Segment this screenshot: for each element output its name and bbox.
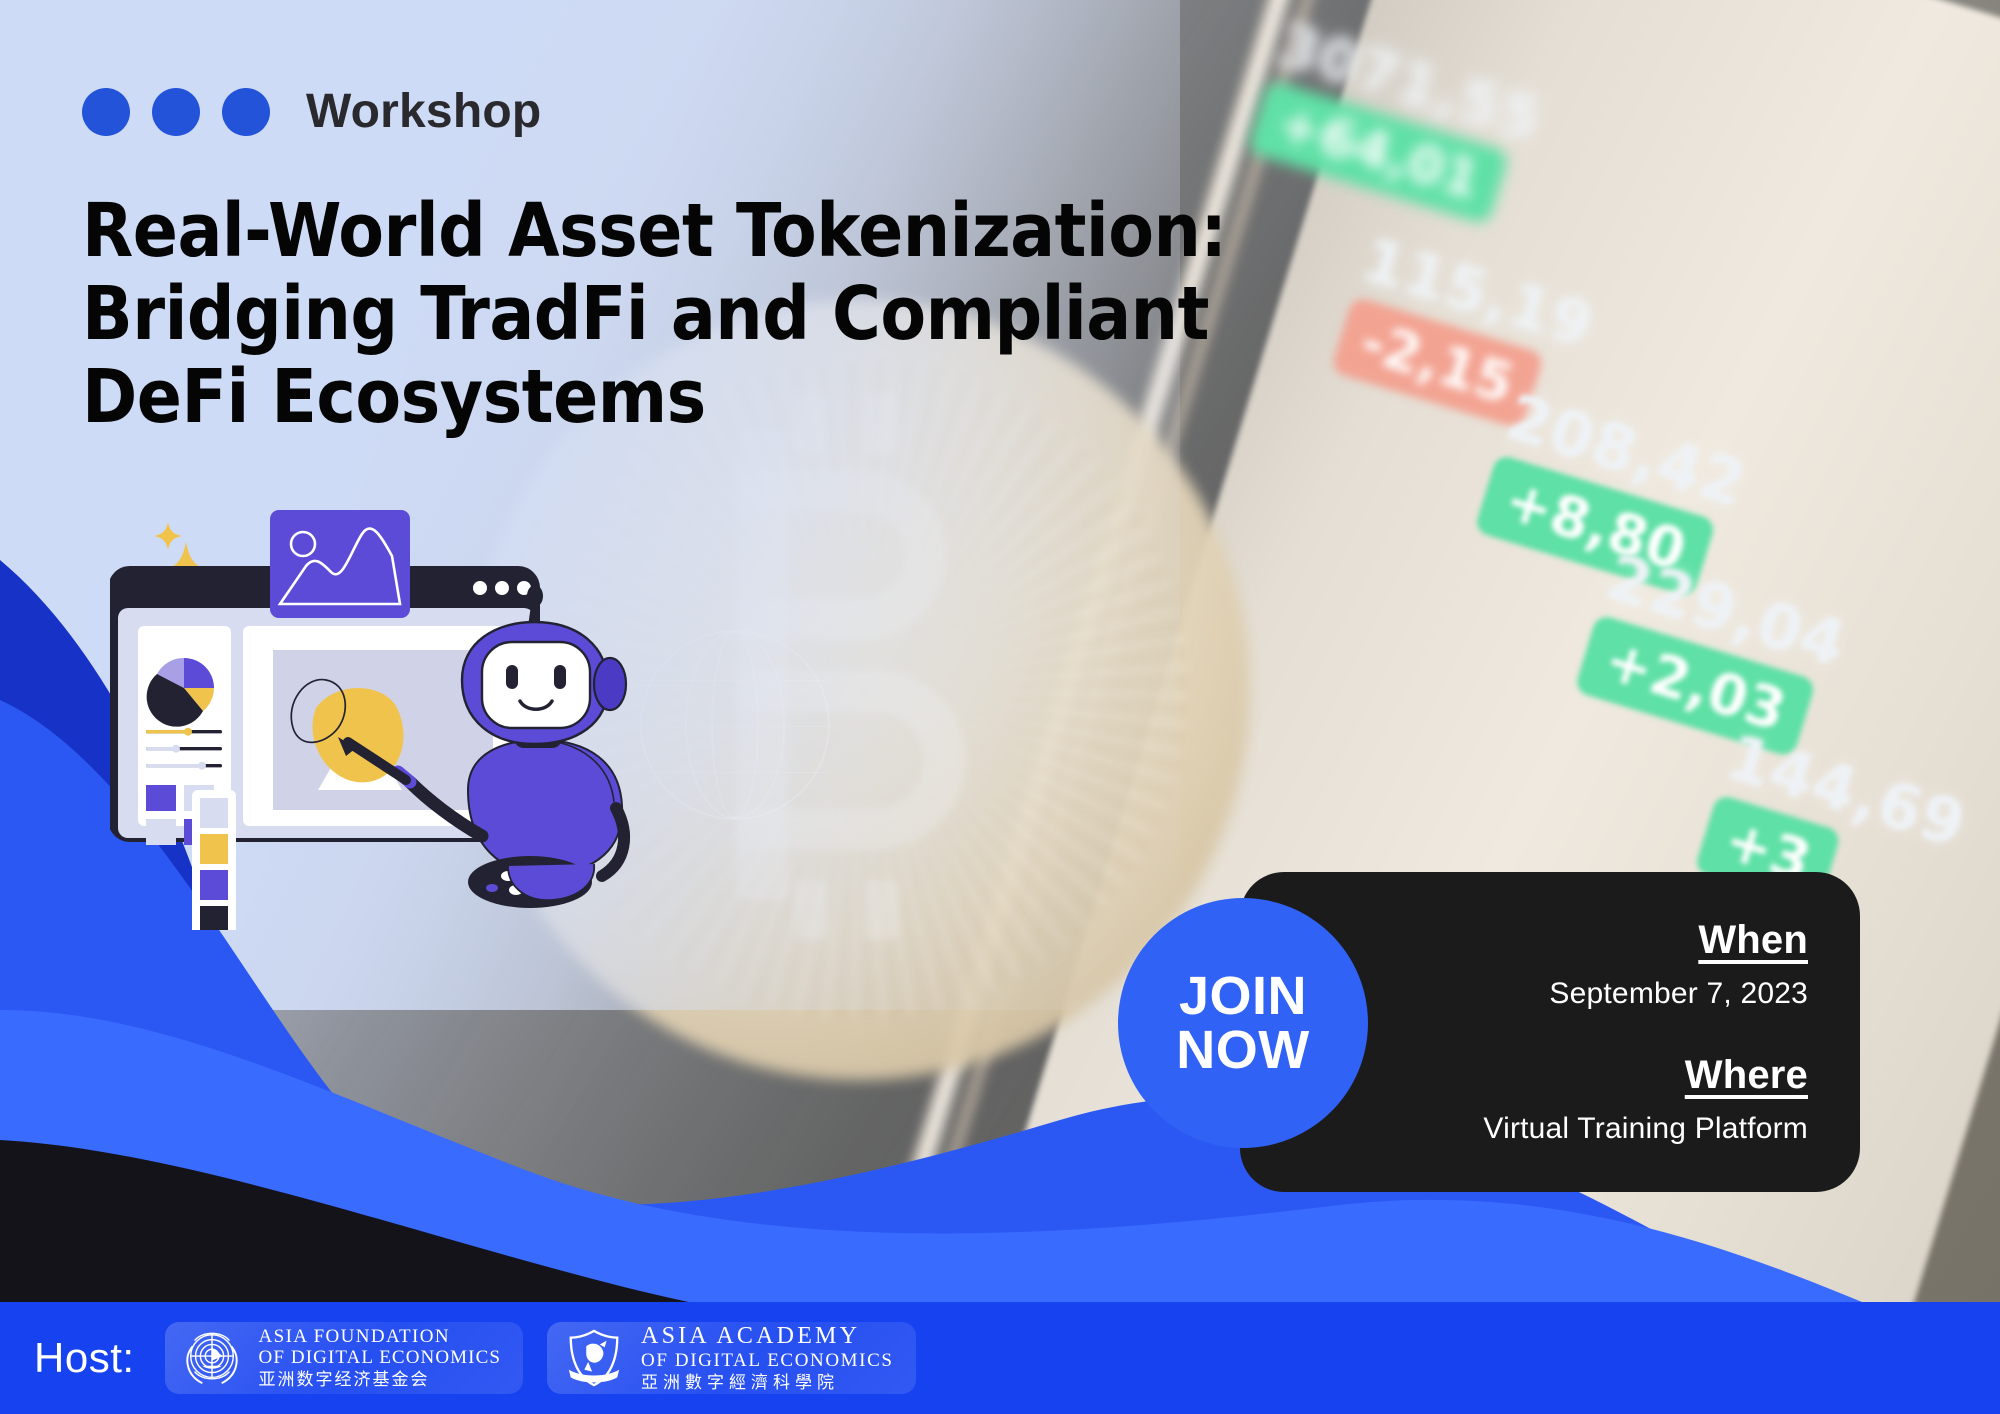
title-line-3: DeFi Ecosystems <box>82 356 1042 439</box>
when-value: September 7, 2023 <box>1549 977 1808 1011</box>
logo-line-cn: 亚洲数字经济基金会 <box>259 1371 502 1390</box>
robot-face-screen <box>482 642 590 728</box>
palette-swatch-dark <box>200 906 228 930</box>
window-dot-1 <box>473 581 487 595</box>
kicker-dot-3 <box>222 88 270 136</box>
ribbon-banner <box>569 1370 619 1383</box>
heraldic-shield-lion-icon <box>563 1327 625 1389</box>
lion-head <box>600 1341 607 1348</box>
logo-line-2: OF DIGITAL ECONOMICS <box>259 1347 502 1368</box>
logo-line-cn: 亞洲數字經濟科學院 <box>641 1374 894 1393</box>
logo-line-2: OF DIGITAL ECONOMICS <box>641 1350 894 1371</box>
host-logo-text: ASIA ACADEMY OF DIGITAL ECONOMICS 亞洲數字經濟… <box>641 1323 894 1392</box>
logo-line-1: ASIA FOUNDATION <box>259 1326 502 1347</box>
kicker-dot-2 <box>152 88 200 136</box>
palette-dot-purple <box>486 884 498 892</box>
palette-swatch-yellow <box>200 834 228 864</box>
un-wreath-globe-icon <box>181 1327 243 1389</box>
host-label: Host: <box>34 1334 135 1382</box>
slider-handle <box>184 728 192 736</box>
host-logo-asia-foundation[interactable]: ASIA FOUNDATION OF DIGITAL ECONOMICS 亚洲数… <box>165 1322 524 1394</box>
where-value: Virtual Training Platform <box>1483 1112 1808 1146</box>
kicker-group: Workshop <box>82 84 541 139</box>
join-now-line-2: NOW <box>1176 1023 1309 1077</box>
robot-eye-right <box>554 665 566 689</box>
window-dot-2 <box>495 581 509 595</box>
kicker-dot-1 <box>82 88 130 136</box>
robot-painting-illustration <box>110 490 690 930</box>
poster-canvas: 3071,55 +64,01 115,19 -2,15 208,42 +8,80… <box>0 0 2000 1414</box>
title-line-1: Real-World Asset Tokenization: <box>82 190 1042 273</box>
kicker-label: Workshop <box>306 84 541 139</box>
when-label: When <box>1698 918 1808 963</box>
page-title: Real-World Asset Tokenization: Bridging … <box>82 190 1042 439</box>
robot-eye-left <box>506 665 518 689</box>
host-logo-asia-academy[interactable]: ASIA ACADEMY OF DIGITAL ECONOMICS 亞洲數字經濟… <box>547 1322 916 1394</box>
host-logo-text: ASIA FOUNDATION OF DIGITAL ECONOMICS 亚洲数… <box>259 1326 502 1390</box>
palette-swatch-purple <box>200 870 228 900</box>
where-label: Where <box>1685 1053 1808 1098</box>
join-now-button[interactable]: JOIN NOW <box>1118 898 1368 1148</box>
logo-line-1: ASIA ACADEMY <box>641 1323 894 1350</box>
title-line-2: Bridging TradFi and Compliant <box>82 273 1042 356</box>
slider-handle <box>198 762 206 770</box>
robot-body <box>468 740 622 874</box>
image-thumbnail-card <box>270 510 410 618</box>
robot-ear <box>594 658 626 710</box>
footer-bar: Host: <box>0 1302 2000 1414</box>
slider-handle <box>172 745 180 753</box>
robot-antenna-tip <box>527 585 543 607</box>
join-now-line-1: JOIN <box>1179 969 1307 1023</box>
palette-swatch-light <box>200 798 228 828</box>
